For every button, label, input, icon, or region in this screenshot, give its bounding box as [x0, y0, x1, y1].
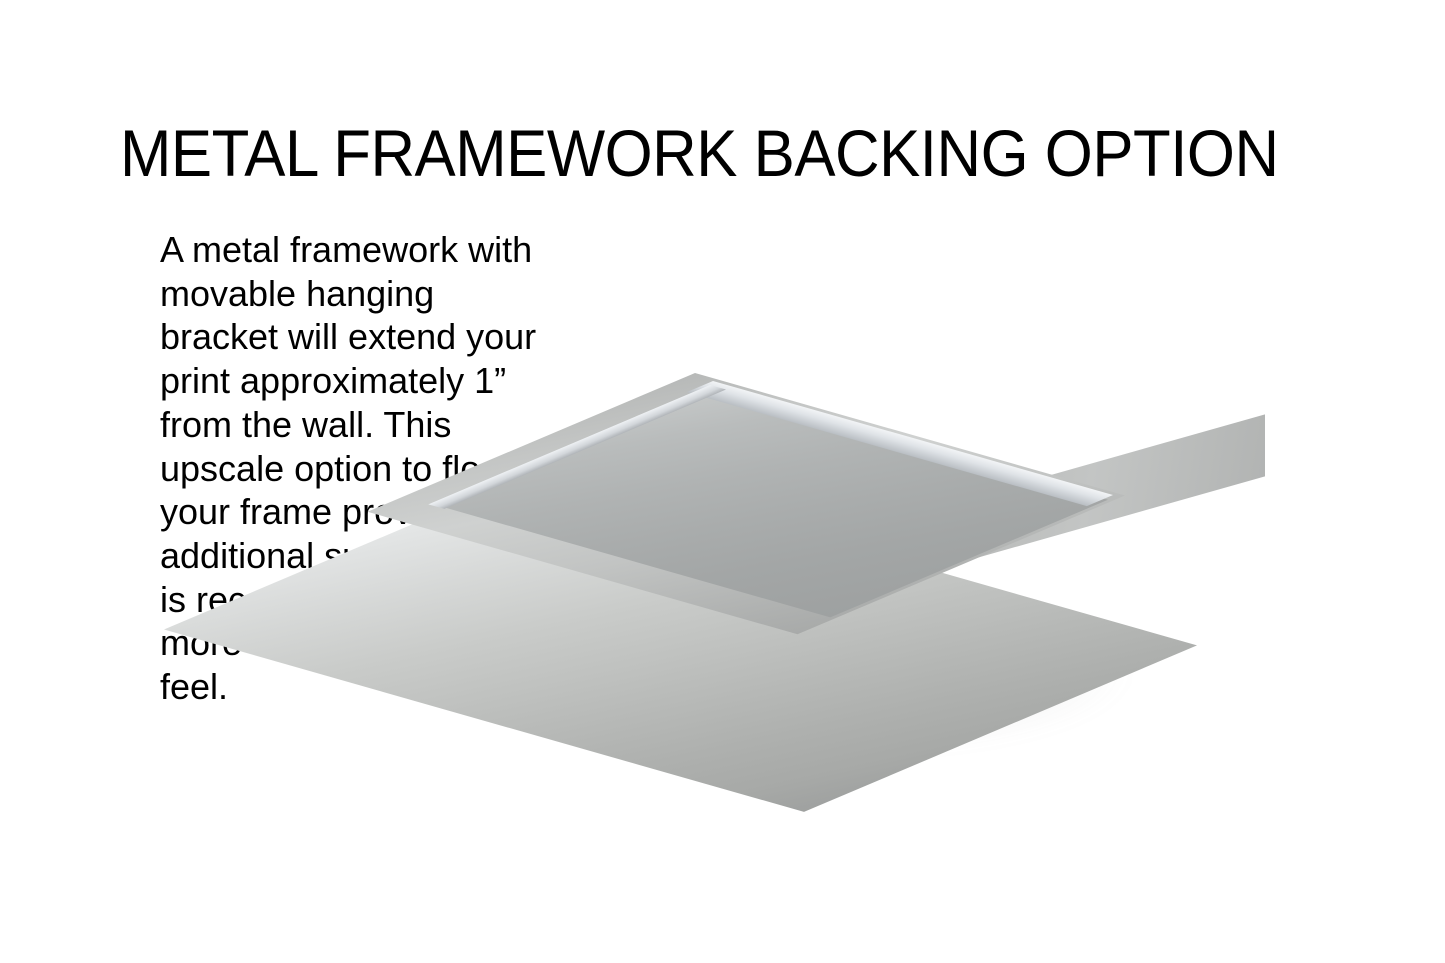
slide-canvas: METAL FRAMEWORK BACKING OPTION A metal f… [0, 0, 1445, 963]
page-title: METAL FRAMEWORK BACKING OPTION [120, 116, 1261, 190]
photo-stage [545, 345, 1415, 795]
metal-framework-backing-photo [545, 345, 1415, 795]
